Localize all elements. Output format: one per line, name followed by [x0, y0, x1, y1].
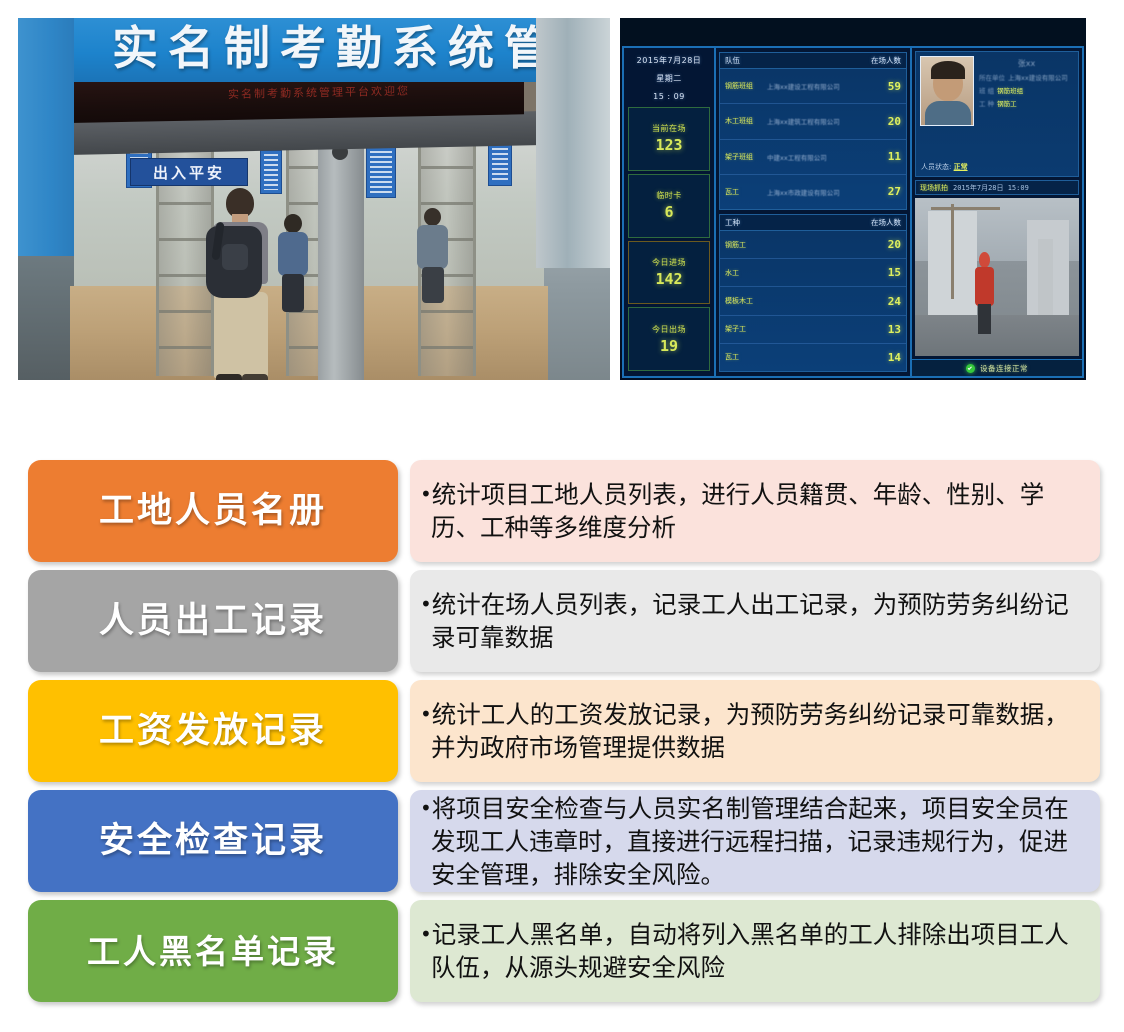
team-row-count: 27	[877, 185, 901, 198]
media-row: 当前在场 123人 今日进场 142人 实名制考勤系统管理平台欢迎您 实名制考勤…	[0, 0, 1124, 400]
trade-row-count: 20	[877, 238, 901, 251]
notice-placard-3	[366, 142, 396, 198]
person-company-value: 上海xx建设有限公司	[1008, 72, 1068, 82]
snapshot-worker	[974, 252, 995, 334]
stat-onsite-now-value: 123	[655, 136, 682, 154]
table-row: 钢筋班组 上海xx建设工程有限公司 59	[720, 69, 906, 104]
stat-temp-card-value: 6	[664, 203, 673, 221]
person-company-row: 所在单位 上海xx建设有限公司	[979, 72, 1074, 82]
clock-date: 2015年7月28日	[628, 53, 710, 68]
trade-row-count: 24	[877, 295, 901, 308]
person-company-key: 所在单位	[979, 72, 1005, 82]
feature-label-text: 人员出工记录	[99, 604, 327, 639]
left-lower-wall	[18, 256, 78, 380]
person-name: 张xx	[979, 58, 1074, 69]
stat-onsite-now: 当前在场 123	[628, 107, 710, 171]
trade-table-col-count: 在场人数	[871, 217, 901, 228]
person-status-key: 人员状态:	[921, 163, 951, 171]
person-trade-key: 工 种	[979, 98, 994, 108]
trade-row-name: 钢筋工	[725, 240, 767, 250]
feature-label-roster[interactable]: 工地人员名册	[28, 460, 398, 562]
feature-label-text: 工资发放记录	[99, 714, 327, 749]
table-row: 瓦工 14	[720, 344, 906, 371]
team-table-col-name: 队伍	[725, 55, 740, 66]
table-row: 水工 15	[720, 259, 906, 287]
feature-row-payroll[interactable]: 工资发放记录 •统计工人的工资发放记录，为预防劳务纠纷记录可靠数据，并为政府市场…	[28, 680, 1100, 782]
feature-desc-payroll: •统计工人的工资发放记录，为预防劳务纠纷记录可靠数据，并为政府市场管理提供数据	[410, 680, 1100, 782]
feature-desc-body: 统计在场人员列表，记录工人出工记录，为预防劳务纠纷记录可靠数据	[431, 590, 1069, 652]
feature-desc-text: •统计在场人员列表，记录工人出工记录，为预防劳务纠纷记录可靠数据	[420, 588, 1088, 654]
table-row: 瓦工 上海xx市政建设有限公司 27	[720, 175, 906, 209]
signboard-right-pillar	[536, 18, 610, 268]
stat-entries-today-label: 今日进场	[652, 257, 686, 268]
trade-row-name: 瓦工	[725, 352, 767, 362]
dashboard-person-column: 张xx 所在单位 上海xx建设有限公司 班 组 钢筋班组 工 种	[912, 48, 1082, 376]
trade-row-count: 14	[877, 351, 901, 364]
team-row-name: 钢筋班组	[725, 81, 767, 91]
feature-label-text: 安全检查记录	[99, 824, 327, 859]
team-table-header: 队伍 在场人数	[720, 53, 906, 69]
bullet-icon: •	[420, 702, 432, 726]
feature-desc-body: 统计项目工地人员列表，进行人员籍贯、年龄、性别、学历、工种等多维度分析	[431, 480, 1044, 542]
worker-with-backpack	[196, 188, 282, 380]
team-row-count: 59	[877, 80, 901, 93]
bullet-icon: •	[420, 796, 432, 820]
trade-table: 工种 在场人数 钢筋工 20 水工 15	[719, 214, 907, 372]
team-row-name: 架子班组	[725, 152, 767, 162]
feature-label-text: 工人黑名单记录	[87, 935, 339, 968]
table-row: 架子工 13	[720, 316, 906, 344]
feature-row-roster[interactable]: 工地人员名册 •统计项目工地人员列表，进行人员籍贯、年龄、性别、学历、工种等多维…	[28, 460, 1100, 562]
background-person-2	[416, 208, 450, 304]
team-table-col-count: 在场人数	[871, 55, 901, 66]
feature-desc-blacklist: •记录工人黑名单，自动将列入黑名单的工人排除出项目工人队伍，从源头规避安全风险	[410, 900, 1100, 1002]
clock-weekday: 星期二	[628, 71, 710, 86]
feature-list: 工地人员名册 •统计项目工地人员列表，进行人员籍贯、年龄、性别、学历、工种等多维…	[0, 448, 1124, 1032]
stat-onsite-now-label: 当前在场	[652, 123, 686, 134]
feature-desc-text: •统计工人的工资发放记录，为预防劳务纠纷记录可靠数据，并为政府市场管理提供数据	[420, 698, 1088, 764]
person-status: 人员状态: 正常	[921, 162, 968, 172]
team-row-company: 中建xx工程有限公司	[767, 152, 877, 162]
feature-label-attendance[interactable]: 人员出工记录	[28, 570, 398, 672]
feature-desc-roster: •统计项目工地人员列表，进行人员籍贯、年龄、性别、学历、工种等多维度分析	[410, 460, 1100, 562]
feature-desc-text: •将项目安全检查与人员实名制管理结合起来，项目安全员在发现工人违章时，直接进行远…	[420, 792, 1088, 891]
trade-row-count: 15	[877, 266, 901, 279]
person-fields: 张xx 所在单位 上海xx建设有限公司 班 组 钢筋班组 工 种	[979, 56, 1074, 172]
trade-table-header: 工种 在场人数	[720, 215, 906, 231]
team-row-company: 上海xx市政建设有限公司	[767, 187, 877, 197]
led-marquee-text: 实名制考勤系统管理平台欢迎您	[228, 82, 410, 101]
snapshot-photo	[915, 198, 1079, 356]
overhead-signboard: 实名制考勤系统管理	[18, 18, 610, 82]
person-team-row: 班 组 钢筋班组	[979, 85, 1074, 95]
snapshot-bar: 现场抓拍 2015年7月28日 15:09	[915, 180, 1079, 195]
feature-desc-text: •记录工人黑名单，自动将列入黑名单的工人排除出项目工人队伍，从源头规避安全风险	[420, 918, 1088, 984]
table-row: 模板木工 24	[720, 287, 906, 315]
feature-label-blacklist[interactable]: 工人黑名单记录	[28, 900, 398, 1002]
team-row-company: 上海xx建筑工程有限公司	[767, 116, 877, 126]
stat-entries-today: 今日进场 142	[628, 241, 710, 305]
device-status-text: 设备连接正常	[980, 363, 1028, 374]
person-trade-row: 工 种 钢筋工	[979, 98, 1074, 108]
table-row: 架子班组 中建xx工程有限公司 11	[720, 140, 906, 175]
stat-temp-card-label: 临时卡	[656, 190, 682, 201]
team-row-name: 瓦工	[725, 187, 767, 197]
trade-row-name: 水工	[725, 268, 767, 278]
feature-desc-attendance: •统计在场人员列表，记录工人出工记录，为预防劳务纠纷记录可靠数据	[410, 570, 1100, 672]
team-table: 队伍 在场人数 钢筋班组 上海xx建设工程有限公司 59 木工班组 上海xx建筑…	[719, 52, 907, 210]
trade-row-name: 模板木工	[725, 296, 767, 306]
feature-row-blacklist[interactable]: 工人黑名单记录 •记录工人黑名单，自动将列入黑名单的工人排除出项目工人队伍，从源…	[28, 900, 1100, 1002]
attendance-dashboard-screenshot: 2015年7月28日 星期二 15 : 09 当前在场 123 临时卡 6 今日…	[620, 18, 1086, 380]
dashboard-stats-column: 2015年7月28日 星期二 15 : 09 当前在场 123 临时卡 6 今日…	[624, 48, 716, 376]
page-root: 当前在场 123人 今日进场 142人 实名制考勤系统管理平台欢迎您 实名制考勤…	[0, 0, 1124, 1032]
table-row: 木工班组 上海xx建筑工程有限公司 20	[720, 104, 906, 139]
dashboard-tables-column: 队伍 在场人数 钢筋班组 上海xx建设工程有限公司 59 木工班组 上海xx建筑…	[716, 48, 912, 376]
snapshot-timestamp: 2015年7月28日 15:09	[953, 183, 1029, 193]
feature-desc-body: 将项目安全检查与人员实名制管理结合起来，项目安全员在发现工人违章时，直接进行远程…	[431, 794, 1069, 889]
team-row-count: 20	[877, 115, 901, 128]
trade-table-col-name: 工种	[725, 217, 740, 228]
feature-row-safety[interactable]: 安全检查记录 •将项目安全检查与人员实名制管理结合起来，项目安全员在发现工人违章…	[28, 790, 1100, 892]
team-row-count: 11	[877, 150, 901, 163]
signboard-left-pillar	[18, 18, 74, 256]
feature-desc-safety: •将项目安全检查与人员实名制管理结合起来，项目安全员在发现工人违章时，直接进行远…	[410, 790, 1100, 892]
feature-desc-body: 统计工人的工资发放记录，为预防劳务纠纷记录可靠数据，并为政府市场管理提供数据	[431, 700, 1069, 762]
feature-desc-text: •统计项目工地人员列表，进行人员籍贯、年龄、性别、学历、工种等多维度分析	[420, 478, 1088, 544]
table-row: 钢筋工 20	[720, 231, 906, 259]
person-team-key: 班 组	[979, 85, 994, 95]
entrance-safety-sign: 出入平安	[130, 158, 248, 186]
device-status-bar: 设备连接正常	[912, 359, 1082, 376]
check-circle-icon	[966, 364, 975, 373]
feature-label-payroll[interactable]: 工资发放记录	[28, 680, 398, 782]
stat-entries-today-value: 142	[655, 270, 682, 288]
trade-row-count: 13	[877, 323, 901, 336]
dashboard-body: 2015年7月28日 星期二 15 : 09 当前在场 123 临时卡 6 今日…	[622, 46, 1084, 378]
bullet-icon: •	[420, 482, 432, 506]
gate-entrance-photo: 当前在场 123人 今日进场 142人 实名制考勤系统管理平台欢迎您 实名制考勤…	[18, 18, 610, 380]
stat-exits-today-value: 19	[660, 337, 678, 355]
person-info-card: 张xx 所在单位 上海xx建设有限公司 班 组 钢筋班组 工 种	[915, 51, 1079, 177]
stat-exits-today-label: 今日出场	[652, 324, 686, 335]
person-trade-value: 钢筋工	[997, 98, 1017, 108]
bullet-icon: •	[420, 922, 432, 946]
snapshot-label: 现场抓拍	[920, 183, 948, 193]
team-row-name: 木工班组	[725, 116, 767, 126]
person-id-photo	[920, 56, 974, 126]
feature-label-text: 工地人员名册	[99, 494, 327, 529]
team-row-company: 上海xx建设工程有限公司	[767, 81, 877, 91]
turnstile-center-column	[318, 122, 364, 380]
person-status-value: 正常	[954, 163, 968, 171]
stat-exits-today: 今日出场 19	[628, 307, 710, 371]
bullet-icon: •	[420, 592, 432, 616]
dashboard-top-bezel	[620, 18, 1086, 46]
feature-label-safety[interactable]: 安全检查记录	[28, 790, 398, 892]
trade-row-name: 架子工	[725, 324, 767, 334]
person-team-value: 钢筋班组	[997, 85, 1023, 95]
feature-desc-body: 记录工人黑名单，自动将列入黑名单的工人排除出项目工人队伍，从源头规避安全风险	[431, 920, 1069, 982]
stat-temp-card: 临时卡 6	[628, 174, 710, 238]
notice-placard-4	[488, 144, 512, 186]
feature-row-attendance[interactable]: 人员出工记录 •统计在场人员列表，记录工人出工记录，为预防劳务纠纷记录可靠数据	[28, 570, 1100, 672]
clock-time: 15 : 09	[628, 89, 710, 104]
